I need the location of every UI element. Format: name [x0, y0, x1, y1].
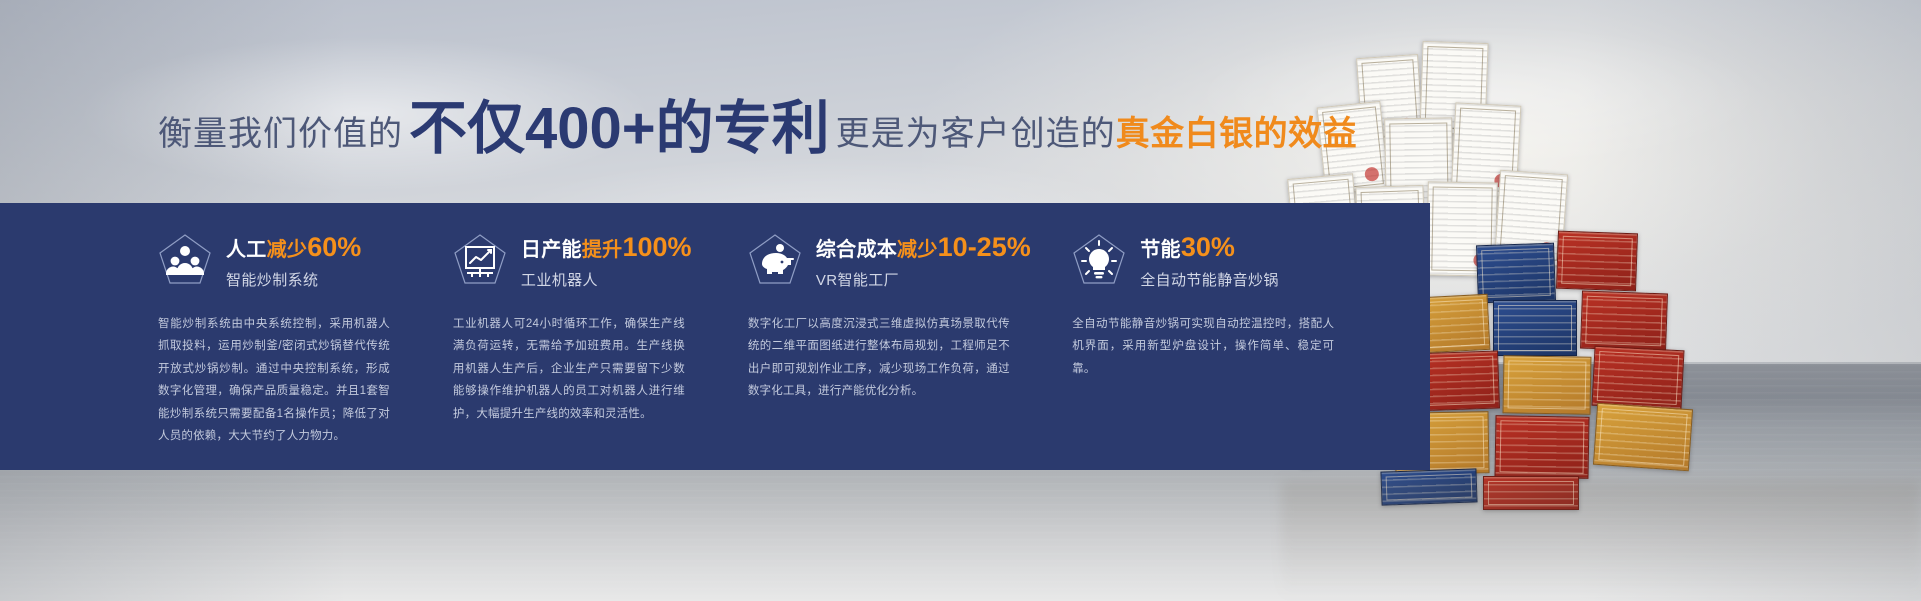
feature-title: 人工减少60% — [226, 232, 361, 263]
certificate-reflection — [1281, 481, 1921, 601]
feature-body: 全自动节能静音炒锅可实现自动控温控时，搭配人机界面，采用新型炉盘设计，操作简单、… — [1072, 313, 1334, 380]
page-title: 衡量我们价值的 不仅400+的专利 更是为客户创造的 真金白银的效益 — [158, 78, 1357, 140]
feature-body: 数字化工厂以高度沉浸式三维虚拟仿真场景取代传统的二维平面图纸进行整体布局规划，工… — [748, 313, 1010, 403]
feature-body: 工业机器人可24小时循环工作，确保生产线满负荷运转，无需给予加班费用。生产线换用… — [453, 313, 685, 425]
feature-subtitle: 工业机器人 — [521, 269, 692, 290]
certificate-item — [1593, 403, 1693, 472]
feature-title-keyword: 提升 — [582, 239, 623, 261]
feature-title-prefix: 节能 — [1140, 239, 1181, 261]
certificate-item — [1503, 355, 1592, 415]
certificate-item — [1494, 415, 1589, 479]
headline-middle: 更是为客户创造的 — [836, 106, 1116, 155]
chart-board-icon — [453, 233, 507, 289]
feature-title: 综合成本减少10-25% — [816, 232, 1031, 263]
headline-accent: 真金白银的效益 — [1116, 106, 1358, 155]
feature-card-cost: 综合成本减少10-25% VR智能工厂 数字化工厂以高度沉浸式三维虚拟仿真场景取… — [748, 229, 1072, 452]
feature-title-prefix: 日产能 — [521, 239, 582, 261]
lightbulb-icon — [1072, 233, 1126, 289]
feature-title-prefix: 综合成本 — [816, 239, 897, 261]
feature-body: 智能炒制系统由中央系统控制，采用机器人抓取投料，运用炒制釜/密闭式炒锅替代传统开… — [158, 313, 390, 448]
headline-lead: 衡量我们价值的 — [158, 106, 403, 155]
feature-card-capacity: 日产能提升100% 工业机器人 工业机器人可24小时循环工作，确保生产线满负荷运… — [453, 229, 748, 452]
certificate-item — [1580, 291, 1668, 352]
feature-subtitle: 全自动节能静音炒锅 — [1140, 269, 1279, 290]
feature-title: 节能30% — [1140, 232, 1279, 263]
feature-subtitle: 智能炒制系统 — [226, 269, 361, 290]
feature-title-number: 30 — [1181, 232, 1211, 262]
feature-subtitle: VR智能工厂 — [816, 269, 1031, 290]
people-group-icon — [158, 233, 212, 289]
feature-title: 日产能提升100% — [521, 232, 692, 263]
feature-title-number: 10-25 — [938, 232, 1007, 262]
features-panel: 人工减少60% 智能炒制系统 智能炒制系统由中央系统控制，采用机器人抓取投料，运… — [0, 203, 1430, 470]
piggy-bank-icon — [748, 233, 802, 289]
feature-title-unit: % — [1007, 232, 1031, 262]
certificate-item — [1556, 231, 1638, 292]
feature-title-unit: % — [1211, 232, 1235, 262]
feature-title-keyword: 减少 — [267, 239, 308, 261]
feature-title-unit: % — [337, 232, 361, 262]
certificate-item — [1591, 346, 1684, 411]
feature-card-energy: 节能30% 全自动节能静音炒锅 全自动节能静音炒锅可实现自动控温控时，搭配人机界… — [1072, 229, 1396, 452]
feature-title-keyword: 减少 — [897, 239, 938, 261]
feature-title-prefix: 人工 — [226, 239, 267, 261]
feature-title-unit: % — [668, 232, 692, 262]
headline-emphasis: 不仅400+的专利 — [409, 81, 830, 165]
feature-title-number: 100 — [622, 232, 667, 262]
certificate-item — [1476, 243, 1556, 304]
feature-card-labor: 人工减少60% 智能炒制系统 智能炒制系统由中央系统控制，采用机器人抓取投料，运… — [158, 229, 453, 452]
certificate-item — [1493, 300, 1577, 356]
feature-title-number: 60 — [307, 232, 337, 262]
